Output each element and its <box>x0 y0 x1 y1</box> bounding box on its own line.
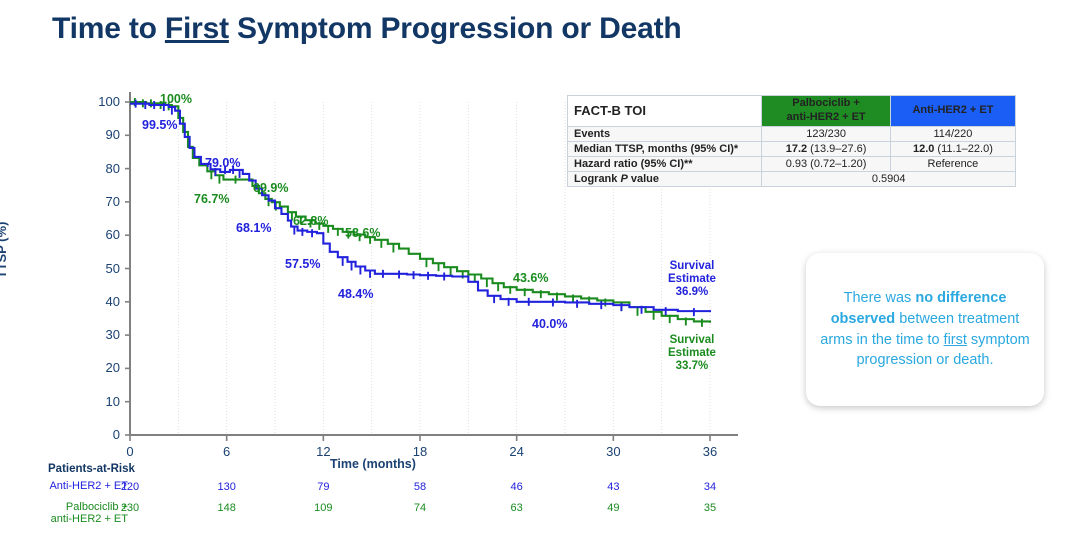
page-title: Time to First Symptom Progression or Dea… <box>52 12 682 46</box>
data-point-label: 58.6% <box>345 226 380 240</box>
table-header-palbociclib: Palbociclib +anti-HER2 + ET <box>762 96 891 127</box>
callout-box: There was no difference observed between… <box>806 253 1044 406</box>
patients-at-risk-value: 58 <box>400 481 440 493</box>
patients-at-risk-value: 109 <box>303 502 343 514</box>
data-point-label: 99.5% <box>142 118 177 132</box>
data-point-label: 57.5% <box>285 257 320 271</box>
callout-underline: first <box>944 332 967 348</box>
row-value-hr-blue: Reference <box>890 156 1015 171</box>
callout-text: There was no difference observed between… <box>820 288 1030 370</box>
data-point-label: 40.0% <box>532 317 567 331</box>
data-point-label: 79.0% <box>205 156 240 170</box>
title-underlined-word: First <box>165 12 229 45</box>
patients-at-risk-value: 74 <box>400 502 440 514</box>
y-tick-label: 90 <box>88 127 120 142</box>
x-tick-label: 24 <box>497 444 537 459</box>
y-axis-title: TTSP (%) <box>0 190 9 310</box>
row-value-median-green: 17.2 (13.9–27.6) <box>762 141 891 156</box>
patients-at-risk-value: 79 <box>303 481 343 493</box>
survival-estimate-blue: SurvivalEstimate36.9% <box>668 260 716 300</box>
patients-at-risk-title: Patients-at-Risk <box>48 463 135 475</box>
y-tick-label: 100 <box>88 94 120 109</box>
table-row: Hazard ratio (95% CI)** 0.93 (0.72–1.20)… <box>568 156 1016 171</box>
patients-at-risk-value: 49 <box>593 502 633 514</box>
x-tick-label: 30 <box>593 444 633 459</box>
x-tick-label: 36 <box>690 444 730 459</box>
median-green-bold: 17.2 <box>786 143 807 155</box>
patients-at-risk-value: 35 <box>690 502 730 514</box>
x-tick-label: 6 <box>207 444 247 459</box>
data-point-label: 68.1% <box>236 221 271 235</box>
callout-part1: There was <box>844 290 916 306</box>
patients-at-risk-value: 230 <box>110 502 150 514</box>
y-tick-label: 10 <box>88 394 120 409</box>
title-part-after: Symptom Progression or Death <box>229 12 682 45</box>
x-tick-label: 0 <box>110 444 150 459</box>
row-value-median-blue: 12.0 (11.1–22.0) <box>890 141 1015 156</box>
patients-at-risk-value: 34 <box>690 481 730 493</box>
data-point-label: 48.4% <box>338 287 373 301</box>
row-label-hazard-ratio: Hazard ratio (95% CI)** <box>568 156 762 171</box>
x-tick-label: 18 <box>400 444 440 459</box>
title-part-before: Time to <box>52 12 165 45</box>
table-header-row: FACT-B TOI Palbociclib +anti-HER2 + ET A… <box>568 96 1016 127</box>
y-tick-label: 40 <box>88 294 120 309</box>
y-tick-label: 0 <box>88 427 120 442</box>
table-row: Median TTSP, months (95% CI)* 17.2 (13.9… <box>568 141 1016 156</box>
patients-at-risk-value: 43 <box>593 481 633 493</box>
y-tick-label: 50 <box>88 261 120 276</box>
row-label-logrank: Logrank P value <box>568 171 762 186</box>
x-axis-title: Time (months) <box>330 457 416 471</box>
patients-at-risk-value: 63 <box>497 502 537 514</box>
results-table: FACT-B TOI Palbociclib +anti-HER2 + ET A… <box>567 95 1016 187</box>
survival-estimate-green: SurvivalEstimate33.7% <box>668 334 716 374</box>
patients-at-risk-value: 130 <box>207 481 247 493</box>
patients-at-risk-value: 46 <box>497 481 537 493</box>
median-green-ci: (13.9–27.6) <box>807 143 866 155</box>
data-point-label: 62.8% <box>293 214 328 228</box>
y-tick-label: 60 <box>88 227 120 242</box>
data-point-label: 76.7% <box>194 192 229 206</box>
y-tick-label: 20 <box>88 360 120 375</box>
x-tick-label: 12 <box>303 444 343 459</box>
y-tick-label: 70 <box>88 194 120 209</box>
row-value-logrank: 0.5904 <box>762 171 1016 186</box>
row-value-events-blue: 114/220 <box>890 126 1015 141</box>
data-point-label: 43.6% <box>513 271 548 285</box>
y-tick-label: 80 <box>88 161 120 176</box>
table-header-antiher2: Anti-HER2 + ET <box>890 96 1015 127</box>
patients-at-risk-value: 148 <box>207 502 247 514</box>
row-label-median-ttsp: Median TTSP, months (95% CI)* <box>568 141 762 156</box>
y-tick-label: 30 <box>88 327 120 342</box>
median-blue-ci: (11.1–22.0) <box>934 143 993 155</box>
table-row: Logrank P value 0.5904 <box>568 171 1016 186</box>
row-value-events-green: 123/230 <box>762 126 891 141</box>
data-point-label: 69.9% <box>253 181 288 195</box>
table-row: Events 123/230 114/220 <box>568 126 1016 141</box>
patients-at-risk-value: 220 <box>110 481 150 493</box>
table-header-label: FACT-B TOI <box>568 96 762 127</box>
median-blue-bold: 12.0 <box>913 143 934 155</box>
data-point-label: 100% <box>160 92 192 106</box>
row-label-events: Events <box>568 126 762 141</box>
row-value-hr-green: 0.93 (0.72–1.20) <box>762 156 891 171</box>
